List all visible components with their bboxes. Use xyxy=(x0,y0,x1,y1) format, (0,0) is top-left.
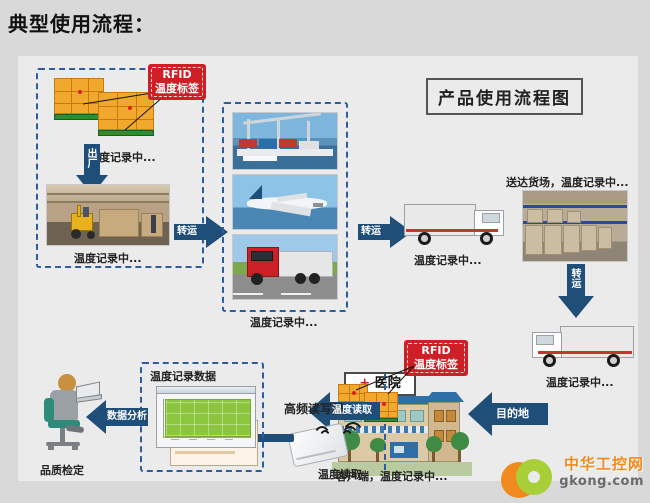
quality-inspector xyxy=(36,368,106,460)
rfid-temperature-tag-2: RFID 温度标签 xyxy=(404,340,468,376)
watermark-cn: 中华工控网 xyxy=(559,453,644,474)
photo-warehouse-racks xyxy=(522,190,628,262)
photo-forklift-warehouse xyxy=(46,184,170,246)
rfid-temperature-tag-1: RFID 温度标签 xyxy=(148,64,206,100)
diagram-panel: 产品使用流程图 RFID 温度标签 温度记录中... xyxy=(18,56,638,481)
reader-caption: 温度读取 xyxy=(318,466,362,482)
watermark-en: gkong.com xyxy=(559,474,644,489)
delivery-truck-caption: 温度记录中... xyxy=(546,374,614,390)
forklift-caption: 温度记录中... xyxy=(74,250,142,266)
inspector-caption: 品质检定 xyxy=(40,462,84,478)
radio-wave-icon xyxy=(312,426,332,460)
depot-caption: 送达货场，温度记录中... xyxy=(506,174,629,190)
arrow-destination: 目的地 xyxy=(468,392,550,436)
arrow-transfer-1: 转运 xyxy=(174,216,228,248)
transport-caption: 温度记录中... xyxy=(250,314,318,330)
rfid-tag-line1: RFID xyxy=(154,68,200,82)
rfid-tag-line2: 温度标签 xyxy=(410,358,462,372)
temperature-chart-plot xyxy=(165,399,251,437)
arrow-destination-label: 目的地 xyxy=(496,408,529,419)
truck-wheel xyxy=(607,354,620,367)
box-truck-delivery xyxy=(528,326,634,370)
radio-wave-icon xyxy=(340,422,366,464)
truck-wheel xyxy=(543,354,556,367)
truck-wheel xyxy=(418,232,431,245)
box-truck-middle-caption: 温度记录中... xyxy=(414,252,482,268)
arrow-temperature-read-label: 温度读取 xyxy=(332,406,372,416)
photo-container-ship xyxy=(232,112,338,170)
arrow-transfer-2-label: 转运 xyxy=(361,227,381,237)
gear-hub xyxy=(528,471,540,483)
rfid-tag-line2: 温度标签 xyxy=(154,82,200,96)
photo-cargo-airplane xyxy=(232,174,338,230)
photo-red-semi-truck xyxy=(232,234,338,300)
rfid-dot xyxy=(382,402,386,406)
arrow-depot-transfer-label: 转运 xyxy=(569,268,579,288)
arrow-depot-transfer: 转运 xyxy=(558,264,594,320)
page-title: 典型使用流程： xyxy=(8,8,155,37)
arrow-transfer-1-label: 转运 xyxy=(177,227,197,237)
diagram-title-box: 产品使用流程图 xyxy=(426,78,583,115)
arrow-leave-factory-label: 出厂 xyxy=(85,148,95,168)
rfid-tag-line1: RFID xyxy=(410,344,462,358)
data-box-label: 温度记录数据 xyxy=(150,368,216,384)
truck-wheel xyxy=(480,232,493,245)
box-truck-middle xyxy=(404,204,508,248)
data-chart-window xyxy=(156,386,256,448)
arrow-data-analysis-label: 数据分析 xyxy=(107,412,147,422)
diagram-title-text: 产品使用流程图 xyxy=(438,89,571,109)
watermark: 中华工控网 gkong.com xyxy=(496,443,646,501)
